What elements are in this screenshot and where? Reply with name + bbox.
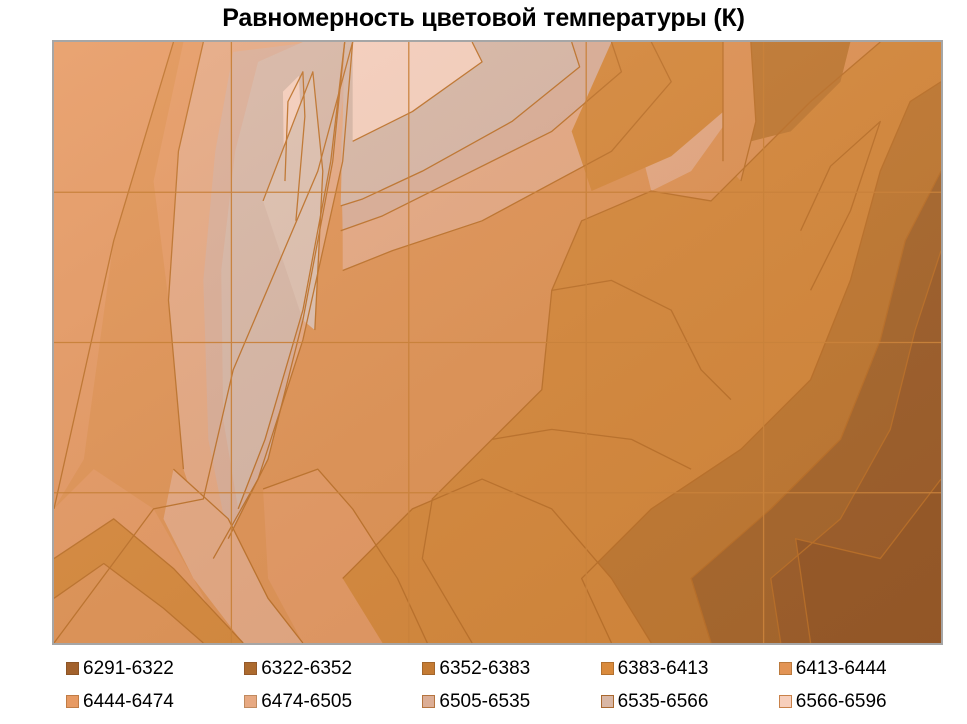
legend-swatch-icon — [601, 695, 614, 708]
contour-plot-svg — [54, 42, 941, 643]
page-title: Равномерность цветовой температуры (К) — [0, 4, 967, 33]
legend-label: 6505-6535 — [439, 692, 530, 711]
legend-label: 6535-6566 — [618, 692, 709, 711]
legend-swatch-icon — [244, 695, 257, 708]
legend-label: 6322-6352 — [261, 659, 352, 678]
legend-item-6566-6596[interactable]: 6566-6596 — [765, 685, 943, 718]
contour-chart: Равномерность цветовой температуры (К) — [0, 0, 967, 724]
legend-label: 6413-6444 — [796, 659, 887, 678]
legend-swatch-icon — [779, 662, 792, 675]
legend-swatch-icon — [422, 695, 435, 708]
legend-label: 6383-6413 — [618, 659, 709, 678]
legend: 6291-6322 6322-6352 6352-6383 6383-6413 … — [52, 652, 943, 718]
legend-label: 6291-6322 — [83, 659, 174, 678]
legend-label: 6444-6474 — [83, 692, 174, 711]
legend-item-6291-6322[interactable]: 6291-6322 — [52, 652, 230, 685]
legend-label: 6352-6383 — [439, 659, 530, 678]
legend-item-6474-6505[interactable]: 6474-6505 — [230, 685, 408, 718]
legend-item-6535-6566[interactable]: 6535-6566 — [587, 685, 765, 718]
legend-item-6413-6444[interactable]: 6413-6444 — [765, 652, 943, 685]
legend-row-1: 6291-6322 6322-6352 6352-6383 6383-6413 … — [52, 652, 943, 685]
legend-label: 6474-6505 — [261, 692, 352, 711]
legend-swatch-icon — [66, 695, 79, 708]
legend-item-6444-6474[interactable]: 6444-6474 — [52, 685, 230, 718]
legend-swatch-icon — [601, 662, 614, 675]
plot-area — [52, 40, 943, 645]
legend-item-6505-6535[interactable]: 6505-6535 — [408, 685, 586, 718]
legend-swatch-icon — [422, 662, 435, 675]
legend-swatch-icon — [244, 662, 257, 675]
legend-row-2: 6444-6474 6474-6505 6505-6535 6535-6566 … — [52, 685, 943, 718]
legend-item-6322-6352[interactable]: 6322-6352 — [230, 652, 408, 685]
legend-item-6352-6383[interactable]: 6352-6383 — [408, 652, 586, 685]
legend-swatch-icon — [66, 662, 79, 675]
legend-label: 6566-6596 — [796, 692, 887, 711]
legend-swatch-icon — [779, 695, 792, 708]
legend-item-6383-6413[interactable]: 6383-6413 — [587, 652, 765, 685]
